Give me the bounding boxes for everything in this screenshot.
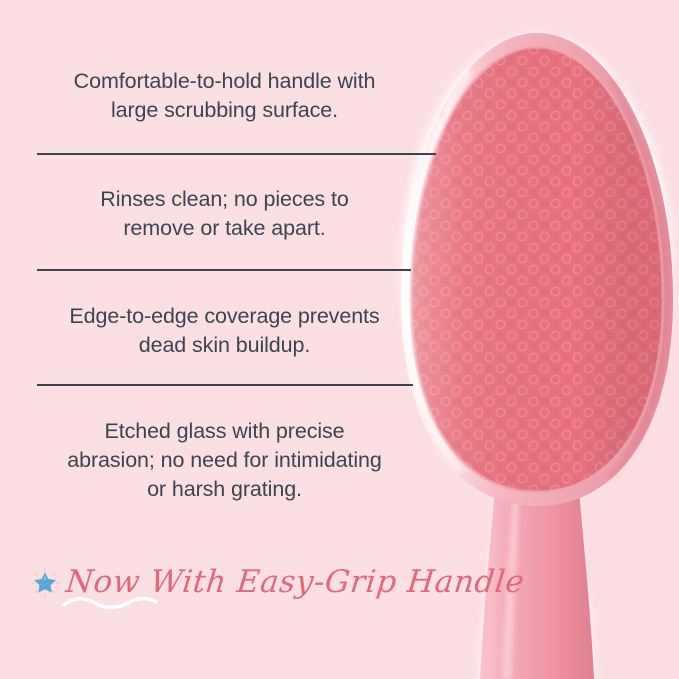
surface-bevel [411,47,663,492]
feature-line: or harsh grating. [37,475,412,504]
feature-line: dead skin buildup. [37,331,412,360]
feature-divider [37,269,411,271]
feature-line: Etched glass with precise [37,417,412,446]
feature-item: Edge-to-edge coverage prevents dead skin… [37,302,412,360]
feature-line: large scrubbing surface. [37,96,412,125]
feature-line: abrasion; no need for intimidating [37,446,412,475]
feature-divider [37,384,413,386]
brush-head-rim [401,33,673,506]
scrubbing-surface [400,30,679,510]
tagline-squiggle [62,596,158,610]
feature-divider [37,153,436,155]
feature-line: Rinses clean; no pieces to [37,185,412,214]
feature-item: Etched glass with precise abrasion; no n… [37,417,412,505]
tagline-text: Now With Easy-Grip Handle [64,564,526,600]
rim-highlight-left [408,70,470,472]
rim-shadow-right [608,80,666,478]
feature-item: Rinses clean; no pieces to remove or tak… [37,185,412,243]
feature-line: remove or take apart. [37,214,412,243]
star-icon [30,568,60,598]
feature-line: Comfortable-to-hold handle with [37,67,412,96]
feature-line: Edge-to-edge coverage prevents [37,302,412,331]
feature-item: Comfortable-to-hold handle with large sc… [37,67,412,125]
product-infographic: Comfortable-to-hold handle with large sc… [0,0,679,679]
